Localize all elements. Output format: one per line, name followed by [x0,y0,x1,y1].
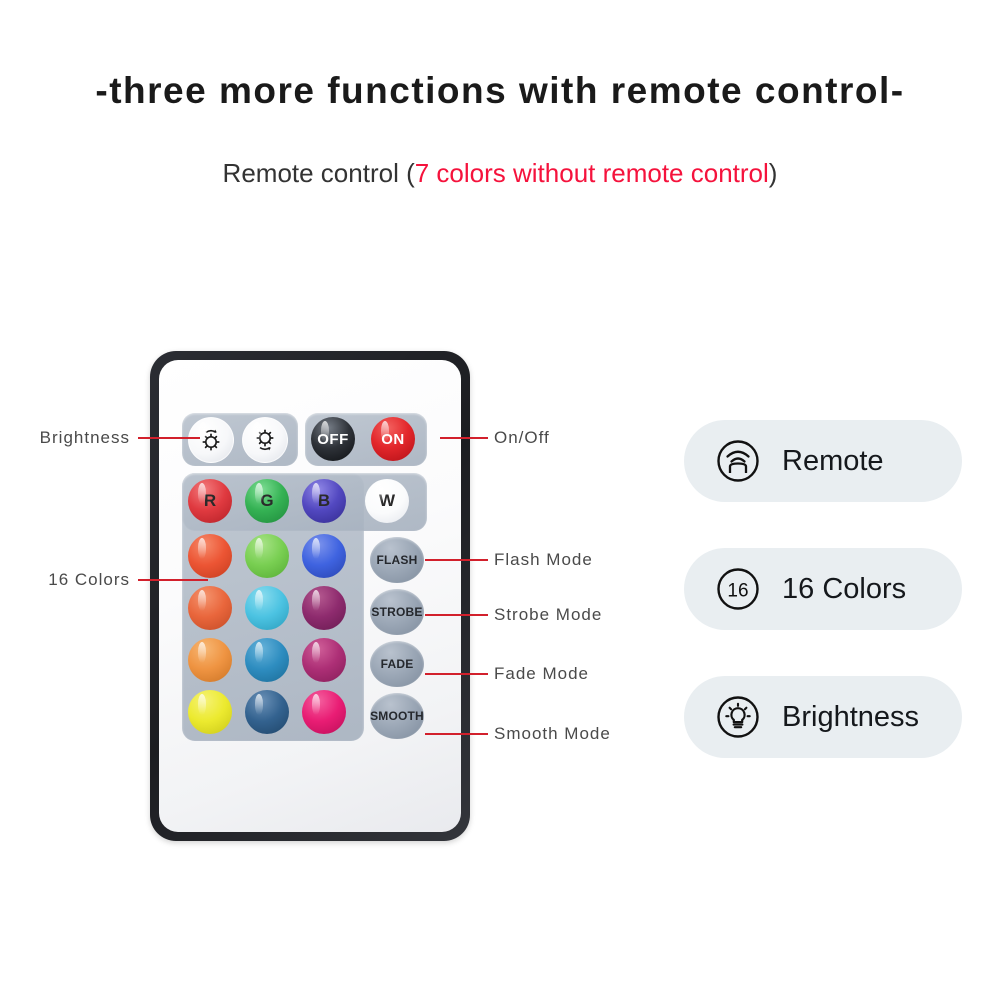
power-off-button[interactable]: OFF [311,417,355,461]
callout-line-fade-mode [425,673,488,675]
color-swatch-button[interactable] [245,638,289,682]
remote-control-device: OFF ON R G B W [150,351,470,841]
mode-button-flash-label: FLASH [377,553,418,567]
light-bulb-icon [716,695,760,739]
brightness-down-button[interactable] [242,417,288,463]
mode-button-fade[interactable]: FADE [370,641,424,687]
color-key-g-label: G [260,491,273,511]
sixteen-circle-icon: 16 [716,567,760,611]
svg-text:16: 16 [727,581,748,602]
remote-signal-icon [716,439,760,483]
page-subtitle: Remote control (7 colors without remote … [0,158,1000,189]
sun-up-icon [196,425,226,455]
callout-label-smooth-mode: Smooth Mode [494,724,611,744]
mode-button-strobe-label: STROBE [371,605,422,619]
color-key-w-label: W [379,491,395,511]
feature-badge-16-colors-label: 16 Colors [782,573,906,606]
callout-line-strobe-mode [425,614,488,616]
callout-label-strobe-mode: Strobe Mode [494,605,602,625]
feature-badge-remote-label: Remote [782,445,884,478]
color-swatch-button[interactable] [302,690,346,734]
color-swatch-button[interactable] [302,638,346,682]
callout-line-on-off [440,437,488,439]
callout-line-smooth-mode [425,733,488,735]
callout-line-16-colors [138,579,208,581]
color-swatch-button[interactable] [302,534,346,578]
color-key-g[interactable]: G [245,479,289,523]
callout-label-flash-mode: Flash Mode [494,550,593,570]
mode-button-smooth[interactable]: SMOOTH [370,693,424,739]
feature-badge-remote[interactable]: Remote [684,420,962,502]
color-swatch-button[interactable] [188,638,232,682]
color-key-w[interactable]: W [365,479,409,523]
power-on-button[interactable]: ON [371,417,415,461]
feature-badge-brightness[interactable]: Brightness [684,676,962,758]
callout-label-brightness: Brightness [20,428,130,448]
color-key-b[interactable]: B [302,479,346,523]
power-off-label: OFF [317,431,349,448]
feature-badge-16-colors[interactable]: 16 16 Colors [684,548,962,630]
color-key-r[interactable]: R [188,479,232,523]
remote-faceplate: OFF ON R G B W [159,360,461,832]
power-on-label: ON [381,431,405,448]
color-swatch-button[interactable] [245,534,289,578]
color-swatch-button[interactable] [302,586,346,630]
color-swatch-button[interactable] [245,586,289,630]
callout-label-on-off: On/Off [494,428,550,448]
callout-label-16-colors: 16 Colors [20,570,130,590]
sun-down-icon [250,425,280,455]
subtitle-lead: Remote control ( [223,158,415,188]
callout-line-brightness [138,437,200,439]
feature-badge-brightness-label: Brightness [782,701,919,734]
callout-line-flash-mode [425,559,488,561]
page-title: -three more functions with remote contro… [0,70,1000,112]
subtitle-trail: ) [769,158,778,188]
subtitle-highlight: 7 colors without remote control [415,158,769,188]
brightness-up-button[interactable] [188,417,234,463]
color-swatch-button[interactable] [188,690,232,734]
color-key-b-label: B [318,491,330,511]
mode-button-smooth-label: SMOOTH [370,709,424,723]
callout-label-fade-mode: Fade Mode [494,664,589,684]
color-swatch-button[interactable] [188,586,232,630]
mode-button-flash[interactable]: FLASH [370,537,424,583]
mode-button-strobe[interactable]: STROBE [370,589,424,635]
mode-button-fade-label: FADE [381,657,414,671]
color-swatch-button[interactable] [188,534,232,578]
color-key-r-label: R [204,491,216,511]
color-swatch-button[interactable] [245,690,289,734]
